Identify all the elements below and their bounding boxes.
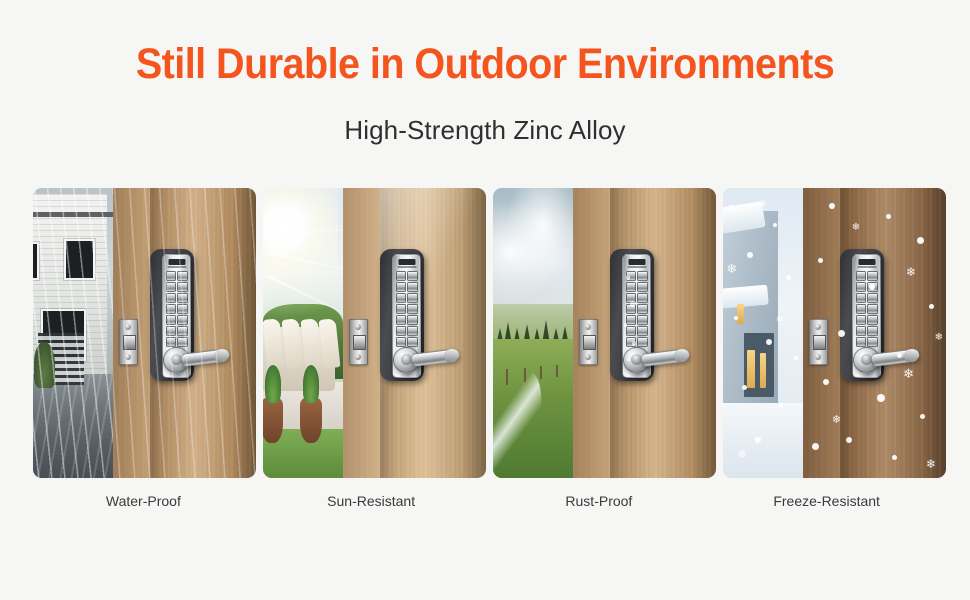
keypad-button[interactable] <box>177 315 188 325</box>
potted-plant <box>265 365 281 403</box>
panel-image-freeze-resistant: ❄ ❄ ❄ ❄ <box>723 188 946 478</box>
panel-image-sun-resistant <box>263 188 486 478</box>
keypad-button[interactable] <box>867 282 878 292</box>
caption-rust-proof: Rust-Proof <box>489 491 710 511</box>
lock-keypad[interactable] <box>166 271 188 347</box>
brand-text <box>397 266 416 268</box>
strike-plate <box>119 319 138 365</box>
keypad-button[interactable] <box>867 337 878 347</box>
keypad-button[interactable] <box>407 315 418 325</box>
keypad-button[interactable] <box>396 315 407 325</box>
keypad-button[interactable] <box>166 337 177 347</box>
snow-ground <box>723 403 803 478</box>
strike-screw-bottom <box>585 354 591 360</box>
brand-logo-icon <box>628 259 645 265</box>
keypad-button[interactable] <box>166 326 177 336</box>
keypad-button[interactable] <box>856 304 867 314</box>
brand-logo-icon <box>858 259 875 265</box>
keypad-button[interactable] <box>166 271 177 281</box>
keypad-button[interactable] <box>396 337 407 347</box>
keypad-button[interactable] <box>856 315 867 325</box>
feature-panel-water-proof[interactable] <box>33 188 256 478</box>
keypad-lock-rust-proof[interactable] <box>610 249 674 381</box>
door-jamb <box>573 188 610 478</box>
keypad-button[interactable] <box>396 326 407 336</box>
fence-post <box>540 366 542 379</box>
door-jamb <box>803 188 840 478</box>
brand-logo-icon <box>168 259 185 265</box>
strike-latch-hole <box>123 335 136 350</box>
shrub <box>34 342 55 388</box>
scene-rainy-house <box>33 188 113 478</box>
strike-plate <box>579 319 598 365</box>
lock-keypad[interactable] <box>396 271 418 347</box>
door-lever-handle[interactable] <box>871 350 917 370</box>
strike-screw-top <box>125 324 131 330</box>
door-assembly: ❄ ❄ ❄ ❄ ❄ ❄ <box>803 188 946 478</box>
potted-plant <box>303 365 319 403</box>
lit-window <box>747 350 755 388</box>
strike-plate <box>349 319 368 365</box>
keypad-button[interactable] <box>166 282 177 292</box>
keypad-button[interactable] <box>637 293 648 303</box>
feature-panel-row: ❄ ❄ ❄ ❄ <box>33 188 937 478</box>
keypad-button[interactable] <box>177 337 188 347</box>
keypad-button[interactable] <box>407 271 418 281</box>
keypad-button[interactable] <box>867 304 878 314</box>
scene-green-meadow <box>493 188 573 478</box>
caption-row: Water-Proof Sun-Resistant Rust-Proof Fre… <box>33 491 937 511</box>
brand-text <box>167 266 186 268</box>
keypad-button[interactable] <box>626 315 637 325</box>
scene-sunny-patio <box>263 188 343 478</box>
wet-pavement <box>33 374 113 478</box>
keypad-button[interactable] <box>177 282 188 292</box>
keypad-button[interactable] <box>407 304 418 314</box>
keypad-lock-water-proof[interactable] <box>150 249 214 381</box>
keypad-button[interactable] <box>626 326 637 336</box>
keypad-button[interactable] <box>637 282 648 292</box>
keypad-button[interactable] <box>867 271 878 281</box>
keypad-button[interactable] <box>407 293 418 303</box>
scene-snowy-building: ❄ ❄ ❄ ❄ <box>723 188 803 478</box>
caption-sun-resistant: Sun-Resistant <box>261 491 482 511</box>
snowflake-icon <box>786 275 791 280</box>
keypad-button[interactable] <box>407 326 418 336</box>
keypad-button[interactable] <box>396 282 407 292</box>
keypad-button[interactable] <box>637 271 648 281</box>
keypad-button[interactable] <box>867 326 878 336</box>
keypad-button[interactable] <box>637 337 648 347</box>
strike-screw-top <box>815 324 821 330</box>
cloudy-sky <box>493 188 573 304</box>
keypad-button[interactable] <box>396 304 407 314</box>
keypad-button[interactable] <box>626 282 637 292</box>
keypad-button[interactable] <box>166 293 177 303</box>
keypad-button[interactable] <box>637 315 648 325</box>
feature-panel-freeze-resistant[interactable]: ❄ ❄ ❄ ❄ <box>723 188 946 478</box>
keypad-button[interactable] <box>407 337 418 347</box>
keypad-button[interactable] <box>177 304 188 314</box>
door-jamb <box>113 188 150 478</box>
snowflake-icon <box>794 356 798 360</box>
roofline <box>33 212 113 217</box>
keypad-button[interactable] <box>166 315 177 325</box>
feature-panel-rust-proof[interactable] <box>493 188 716 478</box>
door-assembly <box>113 188 256 478</box>
keypad-button[interactable] <box>867 293 878 303</box>
lock-keypad[interactable] <box>856 271 878 347</box>
keypad-button[interactable] <box>177 271 188 281</box>
strike-latch-hole <box>353 335 366 350</box>
keypad-button[interactable] <box>856 293 867 303</box>
keypad-button[interactable] <box>177 293 188 303</box>
keypad-lock-sun-resistant[interactable] <box>380 249 444 381</box>
planter-pot <box>300 397 322 443</box>
fence-post <box>556 365 558 377</box>
strike-latch-hole <box>583 335 596 350</box>
planter-pot <box>263 397 283 443</box>
lit-window <box>737 304 743 324</box>
window-side <box>33 242 39 279</box>
caption-freeze-resistant: Freeze-Resistant <box>716 491 937 511</box>
keypad-button[interactable] <box>407 282 418 292</box>
door-lever-handle[interactable] <box>181 350 227 370</box>
keypad-button[interactable] <box>856 271 867 281</box>
window-upper <box>64 239 95 280</box>
keypad-lock-freeze-resistant[interactable] <box>840 249 904 381</box>
panel-image-rust-proof <box>493 188 716 478</box>
page-subtitle: High-Strength Zinc Alloy <box>0 113 970 147</box>
panel-image-water-proof <box>33 188 256 478</box>
strike-screw-bottom <box>355 354 361 360</box>
keypad-button[interactable] <box>856 282 867 292</box>
strike-screw-bottom <box>125 354 131 360</box>
lock-keypad[interactable] <box>626 271 648 347</box>
page-title: Still Durable in Outdoor Environments <box>39 38 931 90</box>
strike-plate <box>809 319 828 365</box>
door-lever-handle[interactable] <box>641 350 687 370</box>
door-lever-handle[interactable] <box>411 350 457 370</box>
strike-screw-top <box>585 324 591 330</box>
door-assembly <box>343 188 486 478</box>
keypad-button[interactable] <box>166 304 177 314</box>
strike-screw-bottom <box>815 354 821 360</box>
strike-latch-hole <box>813 335 826 350</box>
keypad-button[interactable] <box>856 337 867 347</box>
keypad-button[interactable] <box>637 326 648 336</box>
keypad-button[interactable] <box>177 326 188 336</box>
keypad-button[interactable] <box>856 326 867 336</box>
brand-text <box>627 266 646 268</box>
feature-panel-sun-resistant[interactable] <box>263 188 486 478</box>
door-assembly <box>573 188 716 478</box>
door-jamb <box>343 188 380 478</box>
keypad-button[interactable] <box>637 304 648 314</box>
keypad-button[interactable] <box>867 315 878 325</box>
caption-water-proof: Water-Proof <box>33 491 254 511</box>
brand-text <box>857 266 876 268</box>
keypad-button[interactable] <box>396 271 407 281</box>
brand-logo-icon <box>398 259 415 265</box>
strike-screw-top <box>355 324 361 330</box>
keypad-button[interactable] <box>396 293 407 303</box>
lit-window <box>760 353 766 388</box>
